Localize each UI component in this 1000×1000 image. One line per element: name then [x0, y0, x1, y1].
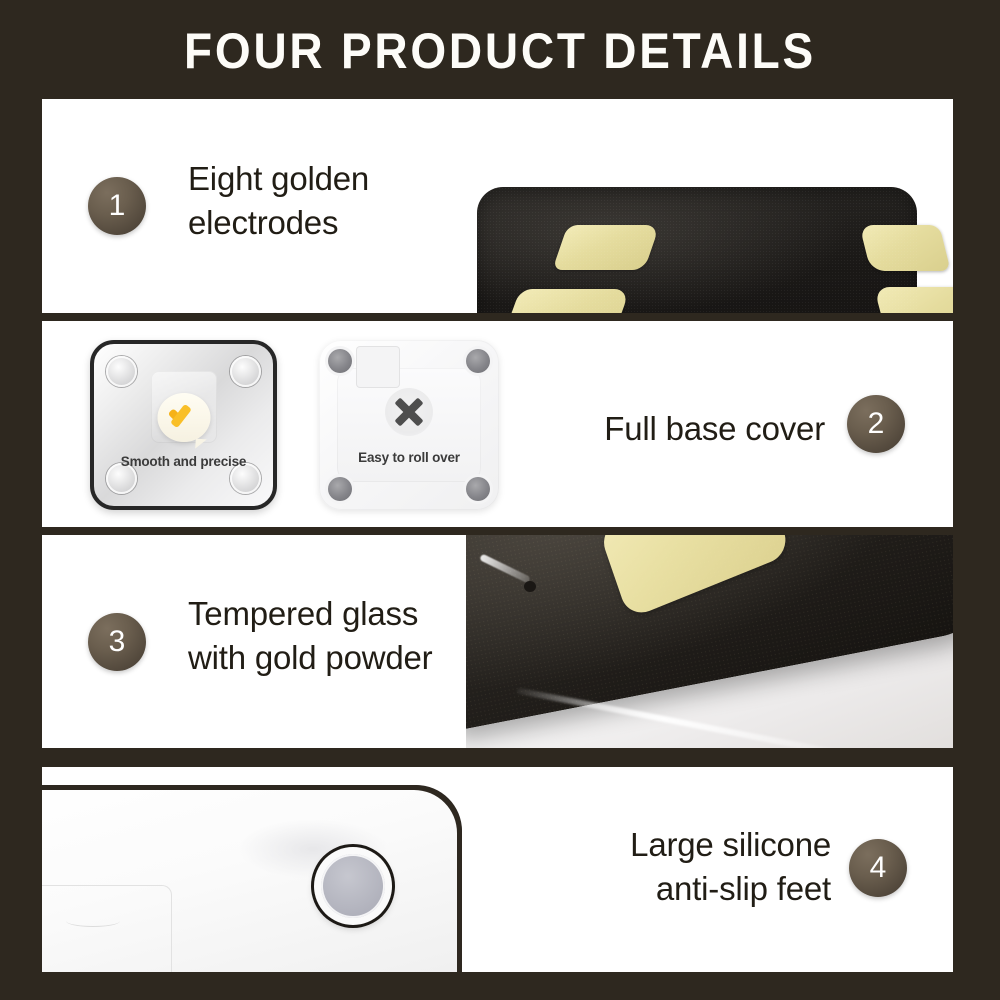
caption-line: Tempered glass	[188, 592, 432, 636]
bad-label: Easy to roll over	[319, 450, 499, 465]
feature-panel-1: 525! 6L 001 955 1 Eight golden electrode…	[42, 99, 953, 313]
caption-line: anti-slip feet	[630, 867, 831, 911]
step-badge-4: 4	[849, 839, 907, 897]
caption-line: Large silicone	[630, 823, 831, 867]
silicone-foot	[230, 356, 261, 387]
silicone-foot	[314, 847, 392, 925]
caption-line: electrodes	[188, 201, 369, 245]
good-label: Smooth and precise	[94, 454, 273, 469]
silicone-foot	[466, 349, 490, 373]
step-badge-1: 1	[88, 177, 146, 235]
feature-caption-1: Eight golden electrodes	[188, 157, 369, 245]
scale-base-good-image: Smooth and precise	[90, 340, 277, 510]
check-icon	[157, 393, 210, 442]
x-icon	[385, 388, 433, 436]
feature-panel-4: Large silicone anti-slip feet 4	[42, 767, 953, 972]
silicone-foot	[466, 477, 490, 501]
caption-line: with gold powder	[188, 636, 432, 680]
page-title: FOUR PRODUCT DETAILS	[40, 22, 960, 80]
feature-panel-3: 0.0 kg 3 Tempered glass with gold powder	[42, 535, 953, 748]
gold-electrode-pad	[598, 535, 791, 619]
gold-electrode-pad	[874, 287, 953, 313]
scale-deck: 525! 6L 001 955	[477, 187, 917, 313]
scale-top-view-image: 525! 6L 001 955	[425, 99, 953, 313]
gold-electrode-pad	[859, 225, 950, 271]
silicone-foot-closeup-image	[42, 767, 512, 972]
caption-line: Eight golden	[188, 157, 369, 201]
x-glyph	[392, 395, 426, 429]
feature-caption-4: Large silicone anti-slip feet	[630, 823, 831, 911]
tempered-glass-closeup-image: 0.0 kg	[466, 535, 953, 748]
underside-groove	[66, 915, 120, 927]
led-display: 0.0 kg	[466, 535, 632, 544]
silicone-foot	[328, 349, 352, 373]
battery-compartment	[356, 346, 400, 388]
scale-base-bad-image: Easy to roll over	[319, 340, 499, 510]
caption-line: Full base cover	[604, 407, 825, 451]
cable-knob	[524, 581, 536, 592]
gold-electrode-pad	[552, 225, 659, 270]
silicone-foot	[106, 356, 137, 387]
step-badge-3: 3	[88, 613, 146, 671]
feature-caption-2: Full base cover	[604, 407, 825, 451]
underside-inner-panel	[42, 885, 172, 972]
gold-electrode-pad	[498, 289, 631, 313]
silicone-foot	[328, 477, 352, 501]
feature-panel-2: Smooth and precise Easy to roll over Ful…	[42, 321, 953, 527]
step-badge-2: 2	[847, 395, 905, 453]
feature-caption-3: Tempered glass with gold powder	[188, 592, 432, 680]
check-glyph	[168, 406, 198, 423]
